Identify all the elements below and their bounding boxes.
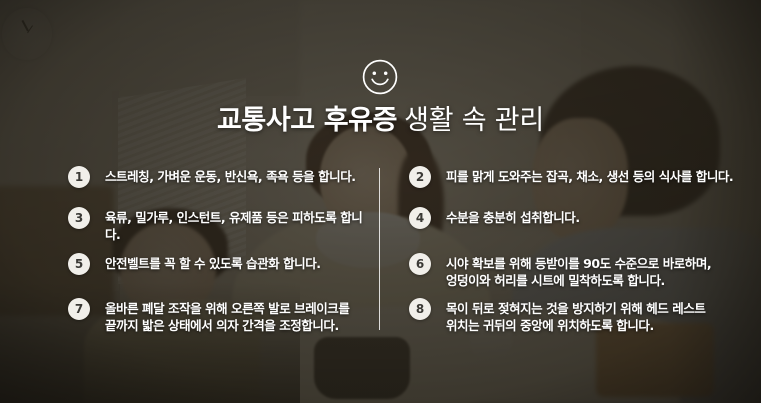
list-item-text: 목이 뒤로 젖혀지는 것을 방지하기 위해 헤드 레스트 위치는 귀뒤의 중앙에…: [446, 298, 705, 334]
list-item: 3 육류, 밀가루, 인스턴트, 유제품 등은 피하도록 합니다.: [68, 207, 368, 243]
list-item-number-badge: 4: [409, 207, 431, 229]
tips-columns: 1 스트레칭, 가벼운 운동, 반신욕, 족욕 등을 합니다. 3 육류, 밀가…: [0, 0, 761, 403]
list-item: 5 안전벨트를 꼭 할 수 있도록 습관화 합니다.: [68, 253, 321, 275]
list-item: 1 스트레칭, 가벼운 운동, 반신욕, 족욕 등을 합니다.: [68, 166, 356, 188]
list-item-text: 피를 맑게 도와주는 잡곡, 채소, 생선 등의 식사를 합니다.: [446, 166, 733, 185]
list-item-number-badge: 3: [68, 207, 90, 229]
list-item: 2 피를 맑게 도와주는 잡곡, 채소, 생선 등의 식사를 합니다.: [409, 166, 733, 188]
list-item: 8 목이 뒤로 젖혀지는 것을 방지하기 위해 헤드 레스트 위치는 귀뒤의 중…: [409, 298, 705, 334]
list-item-number-badge: 5: [68, 253, 90, 275]
list-item: 4 수분을 충분히 섭취합니다.: [409, 207, 580, 229]
list-item-text: 육류, 밀가루, 인스턴트, 유제품 등은 피하도록 합니다.: [105, 207, 368, 243]
banner-stage: 교통사고 후유증생활 속 관리 1 스트레칭, 가벼운 운동, 반신욕, 족욕 …: [0, 0, 761, 403]
list-item-number-badge: 2: [409, 166, 431, 188]
list-item: 6 시야 확보를 위해 등받이를 90도 수준으로 바로하며, 엉덩이와 허리를…: [409, 253, 711, 289]
list-item: 7 올바른 폐달 조작을 위해 오른쪽 발로 브레이크를 끝까지 밟은 상태에서…: [68, 298, 349, 334]
list-item-text: 안전벨트를 꼭 할 수 있도록 습관화 합니다.: [105, 253, 321, 272]
list-item-number-badge: 6: [409, 253, 431, 275]
list-item-text: 수분을 충분히 섭취합니다.: [446, 207, 580, 226]
list-item-text: 시야 확보를 위해 등받이를 90도 수준으로 바로하며, 엉덩이와 허리를 시…: [446, 253, 711, 289]
list-item-text: 올바른 폐달 조작을 위해 오른쪽 발로 브레이크를 끝까지 밟은 상태에서 의…: [105, 298, 349, 334]
list-item-number-badge: 8: [409, 298, 431, 320]
list-item-text: 스트레칭, 가벼운 운동, 반신욕, 족욕 등을 합니다.: [105, 166, 356, 185]
list-item-number-badge: 1: [68, 166, 90, 188]
banner-content: 교통사고 후유증생활 속 관리 1 스트레칭, 가벼운 운동, 반신욕, 족욕 …: [0, 0, 761, 403]
list-item-number-badge: 7: [68, 298, 90, 320]
